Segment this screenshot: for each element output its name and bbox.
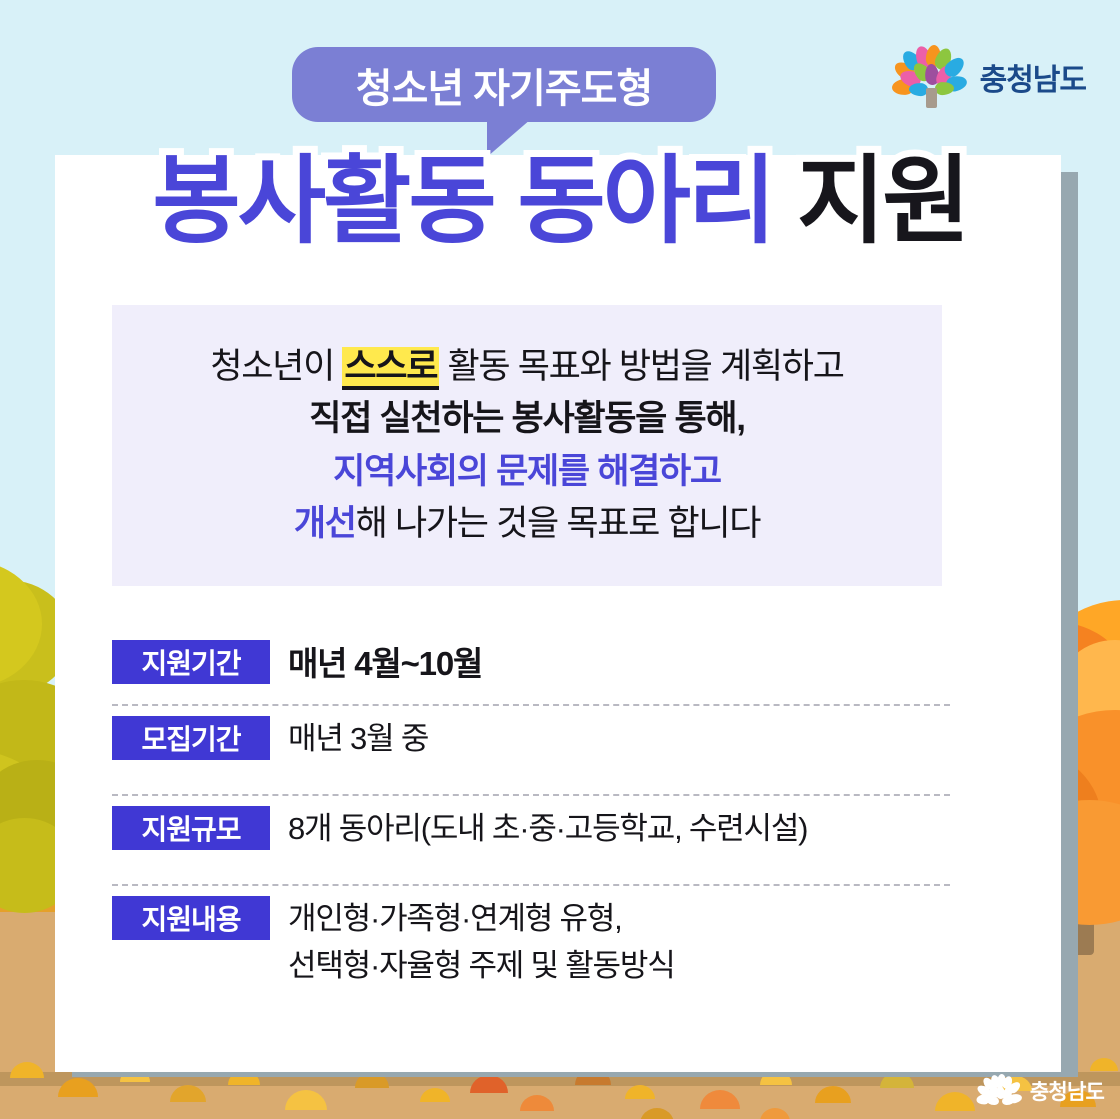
desc-line4-rest: 해 나가는 것을 목표로 합니다 <box>356 504 761 543</box>
title-primary: 봉사활동 동아리 <box>152 148 797 255</box>
desc-highlight-seuseuro: 스스로 <box>342 347 439 390</box>
table-row: 지원기간 매년 4월~10월 <box>112 630 950 704</box>
chungnam-logo: 충청남도 <box>895 46 1086 108</box>
title-secondary: 지원 <box>797 148 968 255</box>
tree-logo-icon <box>895 46 969 108</box>
speech-bubble-badge: 청소년 자기주도형 <box>292 47 716 122</box>
logo-trunk <box>926 88 937 108</box>
footer-logo-label: 충청남도 <box>1030 1076 1104 1106</box>
poster-canvas: 청소년 자기주도형 봉사활동 동아리 지원 충청남도 청소년이 스스로 활동 목… <box>0 0 1120 1119</box>
table-row: 지원규모 8개 동아리(도내 초·중·고등학교, 수련시설) <box>112 796 950 884</box>
row-value-support-period: 매년 4월~10월 <box>288 638 482 688</box>
footer-tree-logo-icon <box>978 1075 1022 1107</box>
description-line-1: 청소년이 스스로 활동 목표와 방법을 계획하고 <box>210 343 843 391</box>
row-value-line-1: 개인형·가족형·연계형 유형, <box>288 894 675 941</box>
row-label-recruit-period: 모집기간 <box>112 716 270 760</box>
footer-chungnam-logo: 충청남도 <box>978 1075 1104 1107</box>
row-value-recruit-period: 매년 3월 중 <box>288 714 428 761</box>
desc-line1-pre: 청소년이 <box>210 347 342 386</box>
description-box: 청소년이 스스로 활동 목표와 방법을 계획하고 직접 실천하는 봉사활동을 통… <box>112 305 942 586</box>
desc-line1-post: 활동 목표와 방법을 계획하고 <box>439 347 844 386</box>
info-table: 지원기간 매년 4월~10월 모집기간 매년 3월 중 지원규모 8개 동아리(… <box>112 630 950 1016</box>
bubble-label: 청소년 자기주도형 <box>356 56 653 114</box>
description-line-3: 지역사회의 문제를 해결하고 <box>333 448 721 496</box>
logo-label: 충청남도 <box>980 55 1086 99</box>
description-line-2: 직접 실천하는 봉사활동을 통해, <box>309 395 744 443</box>
row-label-support-content: 지원내용 <box>112 896 270 940</box>
table-row: 모집기간 매년 3월 중 <box>112 706 950 794</box>
page-title: 봉사활동 동아리 지원 <box>0 150 1120 254</box>
desc-accent-gaeseon: 개선 <box>294 504 356 543</box>
row-label-support-scale: 지원규모 <box>112 806 270 850</box>
row-label-support-period: 지원기간 <box>112 640 270 684</box>
table-row: 지원내용 개인형·가족형·연계형 유형, 선택형·자율형 주제 및 활동방식 <box>112 886 950 1016</box>
row-value-line-2: 선택형·자율형 주제 및 활동방식 <box>288 941 675 988</box>
row-value-support-scale: 8개 동아리(도내 초·중·고등학교, 수련시설) <box>288 804 807 851</box>
description-line-4: 개선해 나가는 것을 목표로 합니다 <box>294 500 760 548</box>
row-value-support-content: 개인형·가족형·연계형 유형, 선택형·자율형 주제 및 활동방식 <box>288 894 675 988</box>
